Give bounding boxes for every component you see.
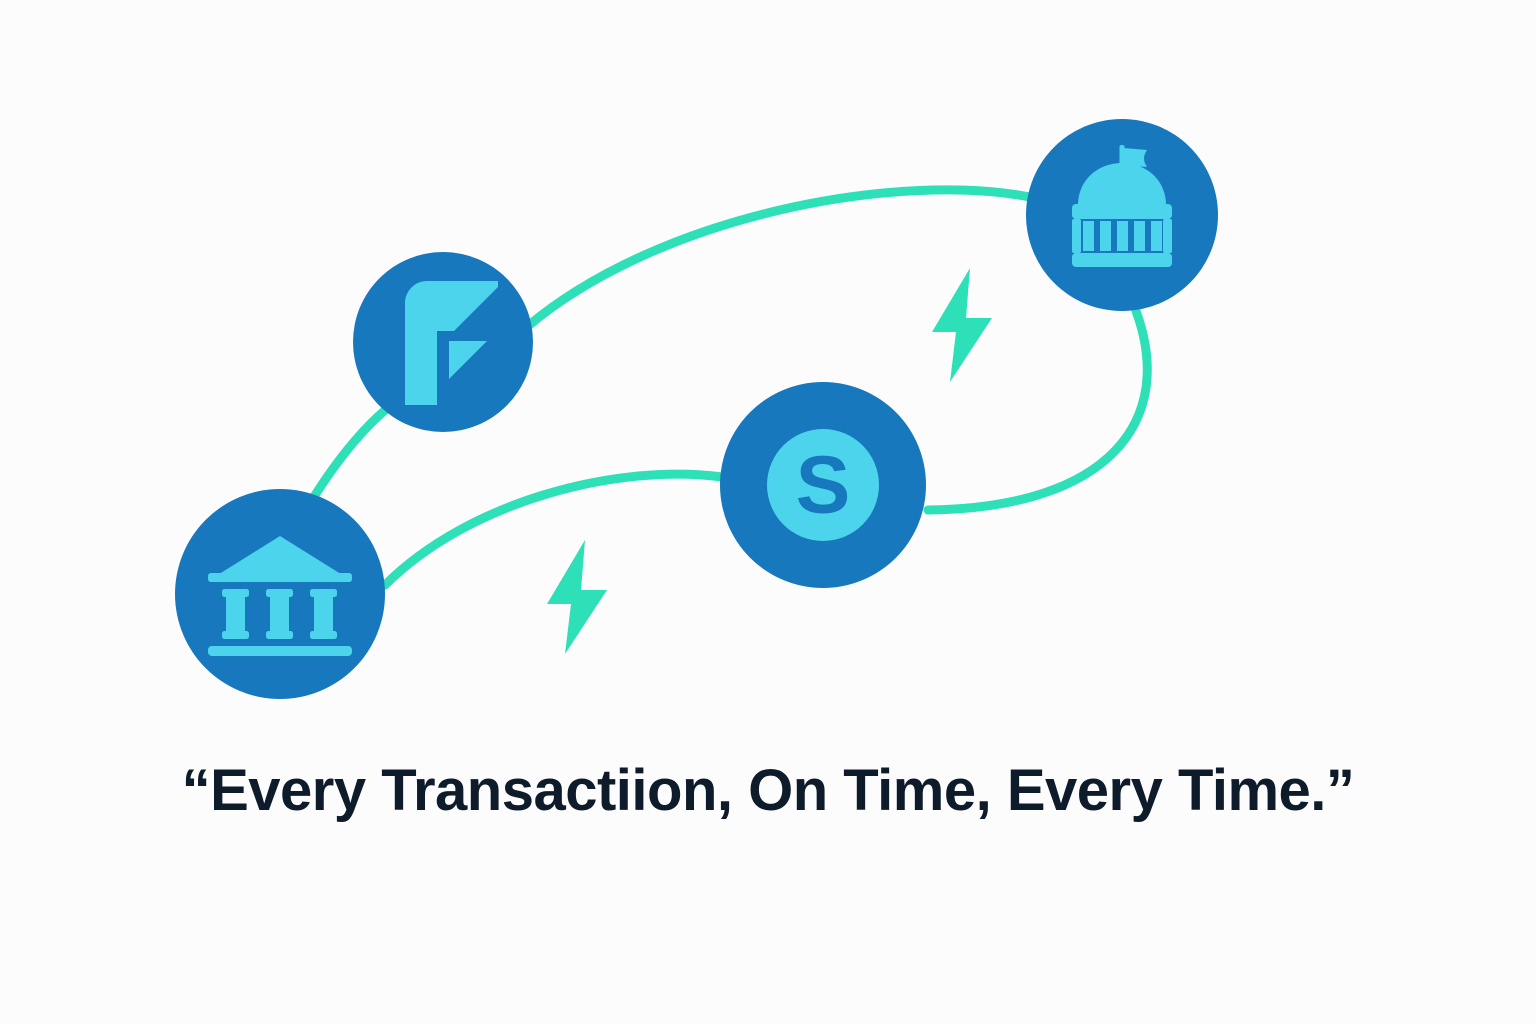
- node-fintech-logo[interactable]: [353, 252, 533, 432]
- bank-column-1: [222, 589, 249, 639]
- connector-bank-to-logo: [312, 400, 398, 500]
- lightning-bolt-icon-upper: [932, 268, 992, 382]
- connector-bank-to-settlement: [385, 474, 722, 585]
- lightning-bolt-icon-lower: [547, 540, 607, 654]
- node-bank[interactable]: [175, 489, 385, 699]
- bank-column-3: [310, 589, 337, 639]
- s-coin-glyph: S: [796, 440, 851, 531]
- page-caption: “Every Transactiion, On Time, Every Time…: [0, 757, 1536, 824]
- node-settlement[interactable]: S: [720, 382, 926, 588]
- network-diagram: S: [0, 0, 1536, 1024]
- illustration-canvas: S: [0, 0, 1536, 1024]
- node-government[interactable]: [1026, 119, 1218, 311]
- bank-column-2: [266, 589, 293, 639]
